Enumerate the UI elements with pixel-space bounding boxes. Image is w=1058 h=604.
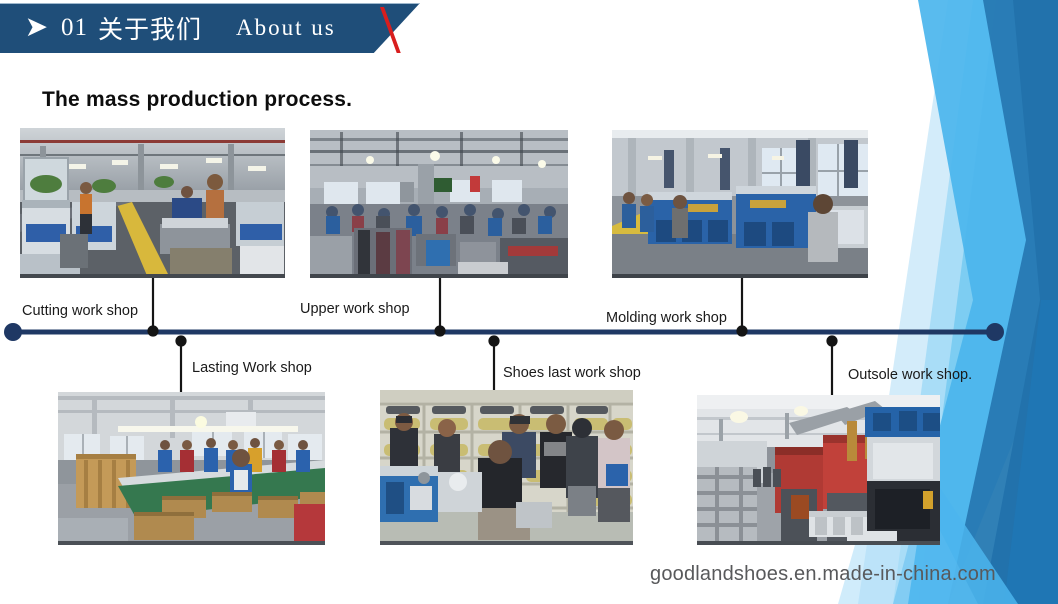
footer-url: goodlandshoes.en.made-in-china.com	[650, 563, 996, 586]
shoes-last-work-shop-photo	[380, 390, 633, 545]
banner-title-chinese: 关于我们	[98, 10, 202, 46]
chevron-right-icon: ➤	[26, 15, 47, 40]
timeline-label-cutting: Cutting work shop	[22, 303, 138, 319]
banner-number: 01	[61, 14, 88, 42]
molding-work-shop-photo	[612, 130, 868, 278]
section-banner: ➤ 01 关于我们 About us	[0, 3, 420, 53]
timeline-label-lasting: Lasting Work shop	[192, 360, 312, 376]
banner-content: ➤ 01 关于我们 About us	[0, 3, 420, 53]
timeline-label-shoes-last: Shoes last work shop	[503, 365, 641, 381]
timeline-label-molding: Molding work shop	[606, 310, 727, 326]
slide-canvas: ➤ 01 关于我们 About us The mass production p…	[0, 0, 1058, 604]
banner-title-english: About us	[236, 15, 336, 41]
timeline-label-outsole: Outsole work shop.	[848, 367, 972, 383]
timeline-label-upper: Upper work shop	[300, 301, 410, 317]
cutting-work-shop-photo	[20, 128, 285, 278]
outsole-work-shop-photo	[697, 395, 940, 545]
timeline-end-dot	[986, 323, 1004, 341]
upper-work-shop-photo	[310, 130, 568, 278]
lasting-work-shop-photo	[58, 392, 325, 545]
page-title: The mass production process.	[42, 88, 352, 112]
timeline-start-dot	[4, 323, 22, 341]
